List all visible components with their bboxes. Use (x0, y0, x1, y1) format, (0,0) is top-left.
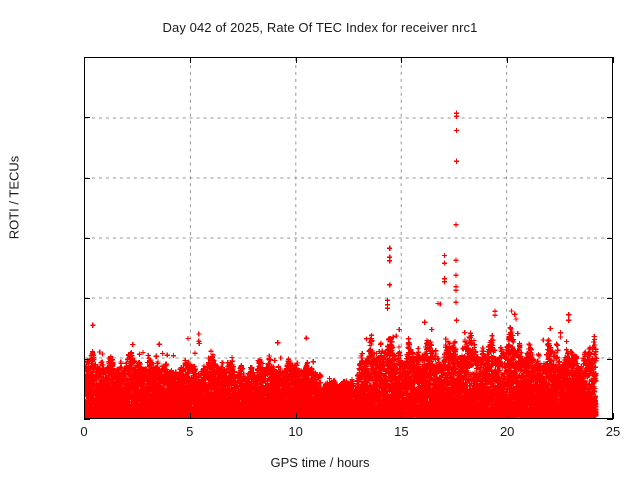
x-tick-mark-top (613, 57, 614, 63)
x-axis-label: GPS time / hours (0, 455, 640, 470)
x-tick-label: 25 (583, 424, 640, 439)
y-tick-mark-left (84, 238, 90, 239)
x-tick-mark-bottom (507, 413, 508, 419)
x-tick-label: 5 (160, 424, 220, 439)
y-tick-mark-right (607, 117, 613, 118)
chart-title: Day 042 of 2025, Rate Of TEC Index for r… (0, 20, 640, 35)
x-tick-mark-top (190, 57, 191, 63)
plot-canvas: Day 042 of 2025, Rate Of TEC Index for r… (0, 0, 640, 480)
x-tick-label: 20 (477, 424, 537, 439)
data-layer (85, 58, 612, 418)
y-tick-mark-left (84, 117, 90, 118)
x-tick-mark-top (84, 57, 85, 63)
y-tick-mark-right (607, 298, 613, 299)
x-tick-mark-bottom (84, 413, 85, 419)
y-tick-mark-right (607, 178, 613, 179)
x-tick-mark-top (401, 57, 402, 63)
y-tick-mark-left (84, 419, 90, 420)
x-tick-label: 10 (266, 424, 326, 439)
x-tick-label: 15 (371, 424, 431, 439)
x-tick-mark-bottom (296, 413, 297, 419)
y-tick-mark-left (84, 359, 90, 360)
x-tick-mark-bottom (190, 413, 191, 419)
scatter-markers (85, 111, 599, 418)
x-tick-mark-bottom (401, 413, 402, 419)
x-tick-mark-top (296, 57, 297, 63)
y-tick-mark-left (84, 178, 90, 179)
y-tick-mark-right (607, 359, 613, 360)
y-tick-mark-right (607, 238, 613, 239)
y-tick-mark-right (607, 419, 613, 420)
x-tick-label: 0 (54, 424, 114, 439)
y-axis-label: ROTI / TECUs (7, 118, 22, 278)
x-tick-mark-bottom (613, 413, 614, 419)
y-tick-mark-left (84, 298, 90, 299)
plot-frame (84, 57, 613, 419)
x-tick-mark-top (507, 57, 508, 63)
